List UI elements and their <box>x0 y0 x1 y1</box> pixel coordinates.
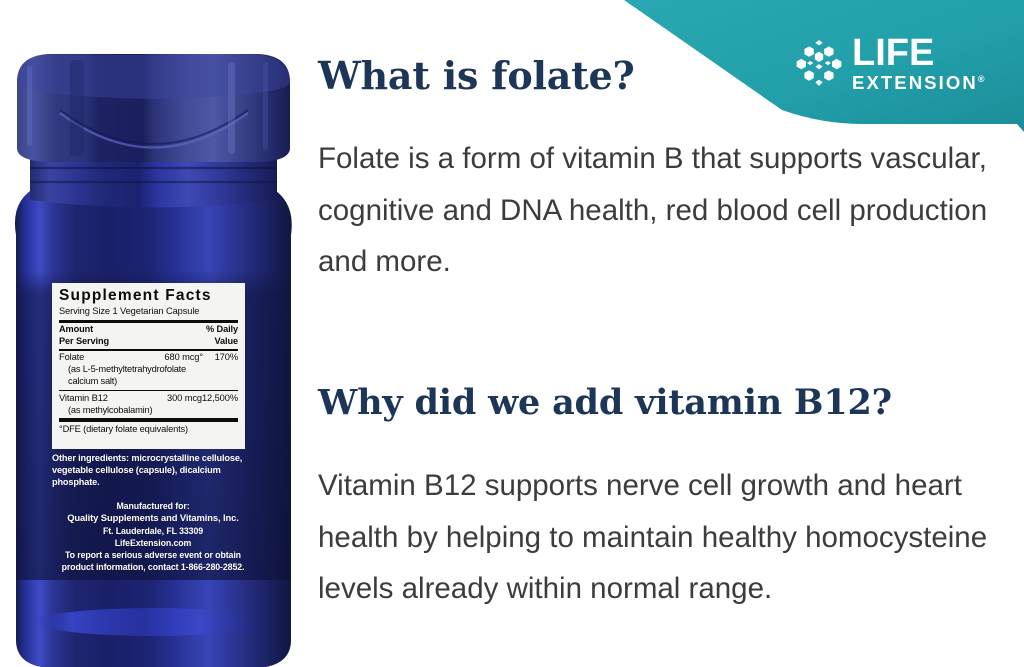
nutrient-row-vitamin-b12: Vitamin B12 300 mcg 12,500% <box>59 391 238 404</box>
manufacturer-block: Manufactured for: Quality Supplements an… <box>42 500 264 574</box>
supplement-facts-panel: Supplement Facts Serving Size 1 Vegetari… <box>52 283 245 449</box>
nutrient-daily-value: 12,500% <box>202 393 238 405</box>
nutrient-daily-value: 170% <box>203 352 238 364</box>
nutrient-name: Folate <box>59 352 141 364</box>
facts-footnote: °DFE (dietary folate equivalents) <box>59 422 238 436</box>
paragraph-what-is-folate: Folate is a form of vitamin B that suppo… <box>318 133 1024 288</box>
nutrient-amount: 680 mcg° <box>141 352 203 364</box>
nutrient-row-folate: Folate 680 mcg° 170% <box>59 351 238 364</box>
manufacturer-line-5: To report a serious adverse event or obt… <box>42 549 264 561</box>
header-dv-line1: % Daily <box>206 324 238 336</box>
nutrient-amount: 300 mcg <box>140 393 202 405</box>
content-column: What is folate? Folate is a form of vita… <box>318 0 1024 667</box>
facts-column-headers: Amount Per Serving % Daily Value <box>59 323 238 347</box>
manufacturer-line-1: Manufactured for: <box>42 500 264 512</box>
serving-size-text: Serving Size 1 Vegetarian Capsule <box>59 306 238 318</box>
nutrient-source-line1: (as methylcobalamin) <box>59 405 238 417</box>
paragraph-why-vitamin-b12: Vitamin B12 supports nerve cell growth a… <box>318 460 1024 615</box>
manufacturer-line-6: product information, contact 1-866-280-2… <box>42 561 264 573</box>
header-amount-line1: Amount <box>59 324 109 336</box>
supplement-facts-title: Supplement Facts <box>59 288 238 304</box>
header-amount-line2: Per Serving <box>59 336 109 348</box>
nutrient-source-line2: calcium salt) <box>59 376 238 388</box>
header-dv-line2: Value <box>206 336 238 348</box>
heading-what-is-folate: What is folate? <box>318 55 635 97</box>
manufacturer-line-2: Quality Supplements and Vitamins, Inc. <box>42 512 264 525</box>
manufacturer-website: LifeExtension.com <box>42 537 264 549</box>
nutrient-source-line1: (as L-5-methyltetrahydrofolate <box>59 364 238 376</box>
manufacturer-line-3: Ft. Lauderdale, FL 33309 <box>42 525 264 537</box>
heading-why-vitamin-b12: Why did we add vitamin B12? <box>318 384 892 423</box>
nutrient-name: Vitamin B12 <box>59 393 140 405</box>
other-ingredients-text: Other ingredients: microcrystalline cell… <box>52 452 252 488</box>
